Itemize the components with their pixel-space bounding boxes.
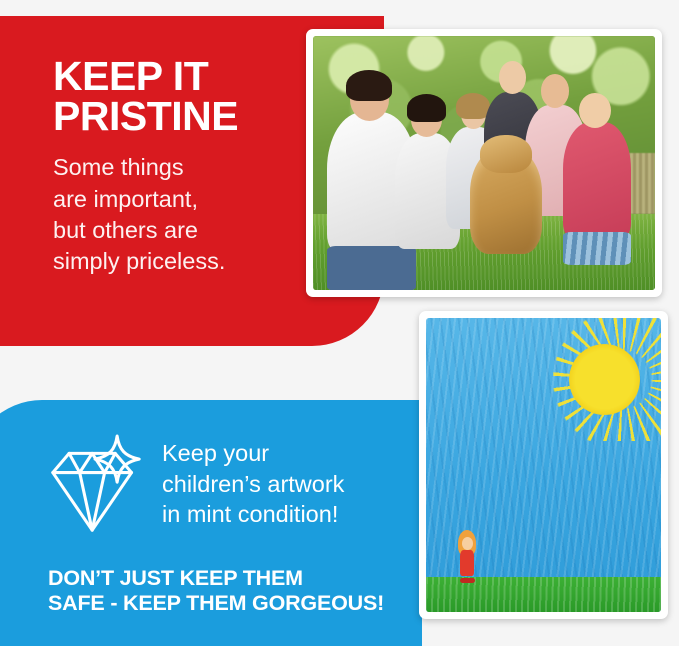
drawn-girl-figure [457,530,478,580]
subcopy-line-2: are important, [53,184,313,215]
subcopy-line-3: but others are [53,215,313,246]
golden-retriever-dog [470,148,542,255]
diamond-sparkle-icon [48,434,144,538]
headline-line-1: KEEP IT [53,53,208,99]
poster-canvas: KEEP IT PRISTINE Some things are importa… [0,0,679,646]
child-artwork-photo [419,311,668,619]
cta-line-2: SAFE - KEEP THEM GORGEOUS! [48,591,384,616]
blue-panel: Keep your children’s artwork in mint con… [0,400,422,646]
headline-line-2: PRISTINE [53,96,313,136]
family-photo-artwork [313,36,655,290]
blue-panel-content: Keep your children’s artwork in mint con… [48,428,344,538]
child-artwork-image [426,318,661,612]
blue-copy-line-3: in mint condition! [162,499,344,530]
crayon-drawing [426,318,661,612]
blue-panel-copy: Keep your children’s artwork in mint con… [162,428,344,530]
blue-panel-cta: DON’T JUST KEEP THEM SAFE - KEEP THEM GO… [48,566,384,616]
red-panel-content: KEEP IT PRISTINE Some things are importa… [53,56,313,277]
subcopy-line-4: simply priceless. [53,246,313,277]
page-title: KEEP IT PRISTINE [53,56,313,136]
blue-copy-line-2: children’s artwork [162,469,344,500]
subcopy-line-1: Some things [53,152,313,183]
family-photo-image [313,36,655,290]
red-panel-subcopy: Some things are important, but others ar… [53,152,313,277]
family-photo [306,29,662,297]
person-girl-3 [563,122,631,239]
blue-copy-line-1: Keep your [162,438,344,469]
cta-line-1: DON’T JUST KEEP THEM [48,566,384,591]
